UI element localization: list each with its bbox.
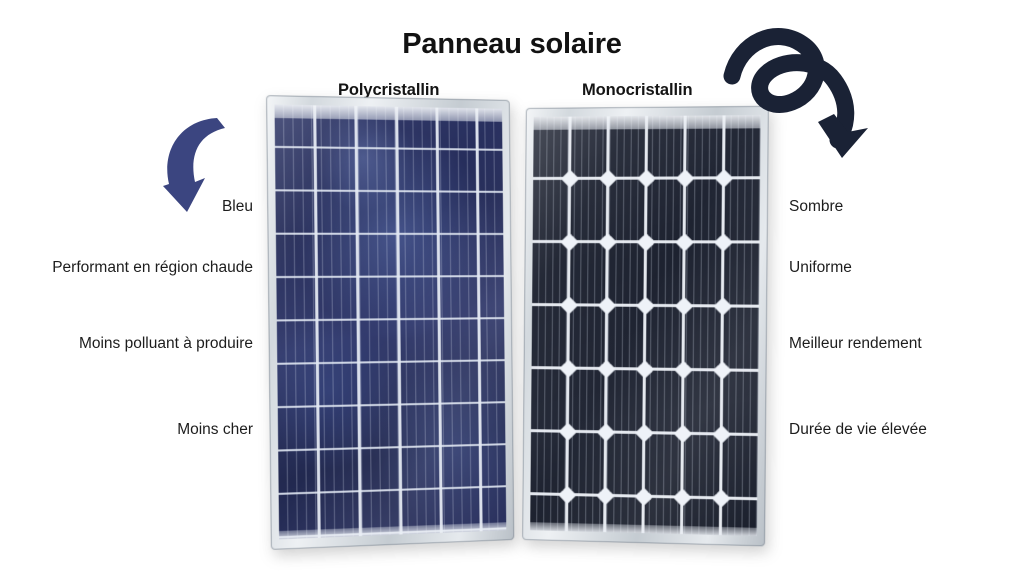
panel-heading-monocristallin: Monocristallin bbox=[582, 81, 692, 100]
panel-glass-mono bbox=[530, 115, 760, 536]
feature-item: Bleu bbox=[38, 196, 253, 218]
solar-panel-polycristallin-image bbox=[266, 95, 514, 550]
feature-item: Durée de vie élevée bbox=[789, 419, 1004, 441]
panel-glass-poly bbox=[275, 105, 507, 540]
looped-arrow-down-right-icon bbox=[722, 18, 887, 173]
poly-grid-horizontal bbox=[275, 105, 507, 540]
feature-item: Sombre bbox=[789, 196, 1004, 218]
mono-cell-corner-diamonds bbox=[530, 115, 760, 536]
feature-item: Meilleur rendement bbox=[789, 333, 1004, 355]
infographic-canvas: Panneau solaire Polycristallin Monocrist… bbox=[0, 0, 1024, 576]
feature-item: Uniforme bbox=[789, 257, 1004, 279]
feature-item: Moins cher bbox=[38, 419, 253, 441]
feature-item: Performant en région chaude bbox=[38, 257, 253, 279]
feature-item: Moins polluant à produire bbox=[38, 333, 253, 355]
